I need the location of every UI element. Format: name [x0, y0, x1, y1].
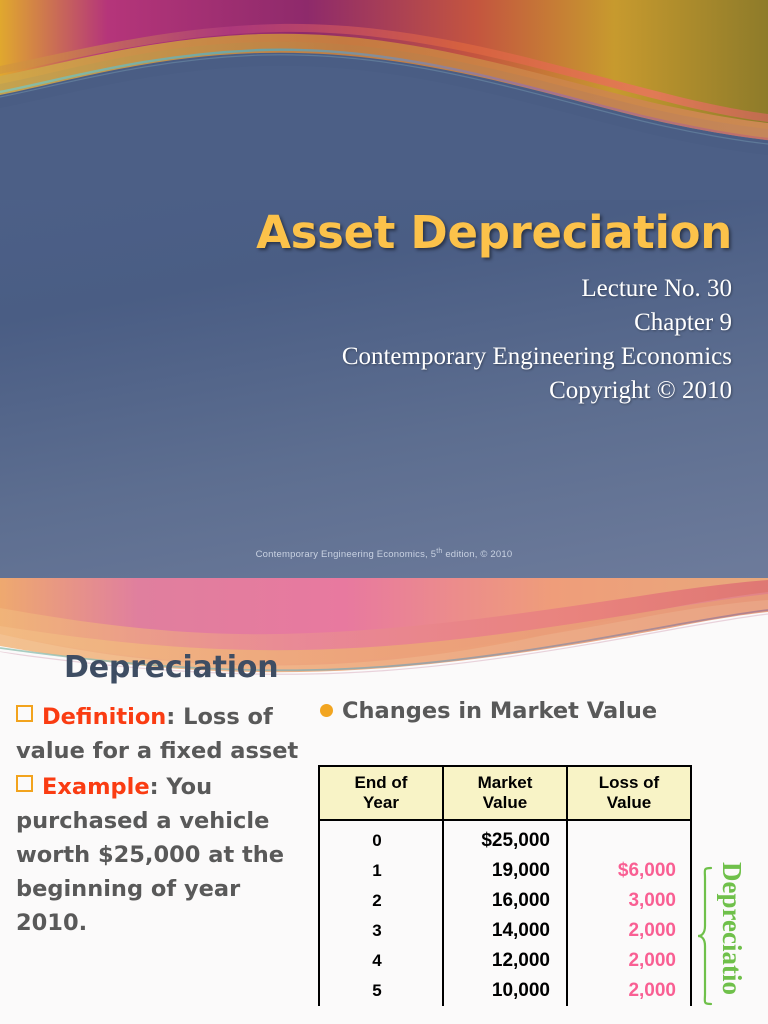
example-keyword: Example	[42, 774, 150, 800]
market-value-section: Changes in Market Value	[320, 698, 760, 724]
definition-list: Definition: Loss of value for a fixed as…	[16, 700, 312, 942]
subtitle-book: Contemporary Engineering Economics	[0, 343, 732, 371]
header-line-2: Value	[483, 793, 527, 812]
cell-end-of-year: 2	[319, 886, 443, 916]
subtitle-chapter: Chapter 9	[0, 309, 732, 337]
footer-prefix: Contemporary Engineering Economics, 5	[256, 549, 437, 560]
section-heading: Depreciation	[64, 650, 278, 685]
table-row: 3 14,000 2,000	[319, 916, 691, 946]
list-item-definition: Definition: Loss of value for a fixed as…	[16, 700, 312, 768]
subtitle-lecture: Lecture No. 30	[0, 275, 732, 303]
decorative-wave-top	[0, 0, 768, 200]
header-line-2: Value	[607, 793, 651, 812]
cell-market-value: $25,000	[443, 820, 567, 856]
list-item-changes-in-market-value: Changes in Market Value	[320, 698, 760, 724]
cell-loss-of-value: 3,000	[567, 886, 691, 916]
header-line-1: Loss of	[599, 773, 659, 792]
market-value-table: End of Year Market Value Loss of Value 0…	[318, 765, 692, 1006]
slide-footer: Contemporary Engineering Economics, 5th …	[0, 548, 768, 560]
square-bullet-icon	[16, 775, 33, 792]
table-row: 2 16,000 3,000	[319, 886, 691, 916]
table-row: 1 19,000 $6,000	[319, 856, 691, 886]
cell-end-of-year: 0	[319, 820, 443, 856]
cell-loss-of-value	[567, 820, 691, 856]
table-row: 0 $25,000	[319, 820, 691, 856]
dot-bullet-icon	[320, 704, 333, 717]
cell-loss-of-value: $6,000	[567, 856, 691, 886]
definition-separator: :	[166, 704, 175, 730]
depreciation-label: Depreciatio	[716, 862, 747, 995]
header-line-2: Year	[363, 793, 399, 812]
column-header-loss-of-value: Loss of Value	[567, 766, 691, 820]
subtitle-copyright: Copyright © 2010	[0, 377, 732, 405]
cell-market-value: 10,000	[443, 976, 567, 1006]
cell-loss-of-value: 2,000	[567, 916, 691, 946]
cell-end-of-year: 1	[319, 856, 443, 886]
cell-market-value: 19,000	[443, 856, 567, 886]
cell-market-value: 16,000	[443, 886, 567, 916]
square-bullet-icon	[16, 705, 33, 722]
definition-keyword: Definition	[42, 704, 166, 730]
footer-suffix: edition, © 2010	[442, 549, 512, 560]
header-line-1: End of	[355, 773, 408, 792]
changes-in-market-value-label: Changes in Market Value	[342, 698, 657, 724]
cell-loss-of-value: 2,000	[567, 946, 691, 976]
table-row: 5 10,000 2,000	[319, 976, 691, 1006]
title-slide: Asset Depreciation Lecture No. 30 Chapte…	[0, 0, 768, 578]
example-separator: :	[150, 774, 159, 800]
cell-end-of-year: 5	[319, 976, 443, 1006]
cell-market-value: 12,000	[443, 946, 567, 976]
cell-loss-of-value: 2,000	[567, 976, 691, 1006]
column-header-end-of-year: End of Year	[319, 766, 443, 820]
list-item-example: Example: You purchased a vehicle worth $…	[16, 770, 312, 940]
cell-market-value: 14,000	[443, 916, 567, 946]
table-row: 4 12,000 2,000	[319, 946, 691, 976]
page-title: Asset Depreciation	[0, 206, 732, 259]
column-header-market-value: Market Value	[443, 766, 567, 820]
table-header-row: End of Year Market Value Loss of Value	[319, 766, 691, 820]
cell-end-of-year: 4	[319, 946, 443, 976]
header-line-1: Market	[478, 773, 533, 792]
cell-end-of-year: 3	[319, 916, 443, 946]
